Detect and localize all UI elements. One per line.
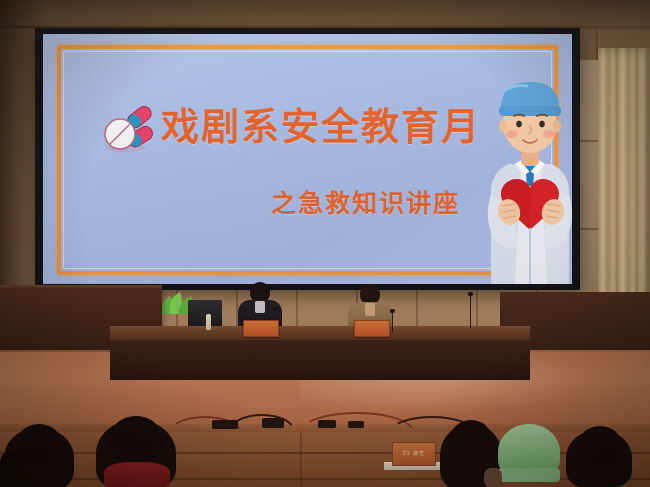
front-desk-seam: [300, 432, 302, 487]
projection-screen: 戏剧系安全教育月 之急救知识讲座: [43, 34, 572, 284]
green-beanie-brim: [498, 468, 560, 482]
microphone-stand-head: [468, 292, 473, 296]
av-device: [262, 418, 284, 428]
audience-head-4-hair: [484, 468, 502, 487]
pills-icon: [100, 104, 156, 156]
speaker-left-shirt: [255, 301, 265, 313]
slide-subtitle: 之急救知识讲座: [271, 184, 460, 220]
red-scarf: [104, 462, 170, 487]
audience-head-3-crown: [450, 420, 492, 458]
name-card-2: 21 演艺: [392, 442, 436, 466]
av-device: [212, 420, 238, 429]
head-table-front: [110, 340, 530, 380]
microphone-left-head: [273, 307, 278, 311]
water-bottle: [206, 314, 211, 330]
nameplate-right: [354, 320, 390, 337]
av-device: [318, 420, 336, 428]
audience-head-2-crown: [110, 416, 162, 460]
doctor-illustration: [475, 60, 572, 284]
projection-screen-bezel: 戏剧系安全教育月 之急救知识讲座: [35, 28, 580, 290]
microphone-right: [392, 312, 393, 332]
name-card-2-label: 21 演艺: [393, 443, 435, 465]
microphone-stand: [470, 296, 471, 328]
nameplate-left: [243, 320, 279, 337]
audience-edge-left: [0, 452, 26, 487]
slide-title: 戏剧系安全教育月: [161, 96, 481, 151]
microphone-right-head: [390, 309, 395, 313]
audience-head-5-crown: [578, 426, 622, 464]
av-device: [348, 421, 364, 428]
photo-scene: 戏剧系安全教育月 之急救知识讲座: [0, 0, 650, 487]
speaker-right-neck: [365, 303, 375, 316]
